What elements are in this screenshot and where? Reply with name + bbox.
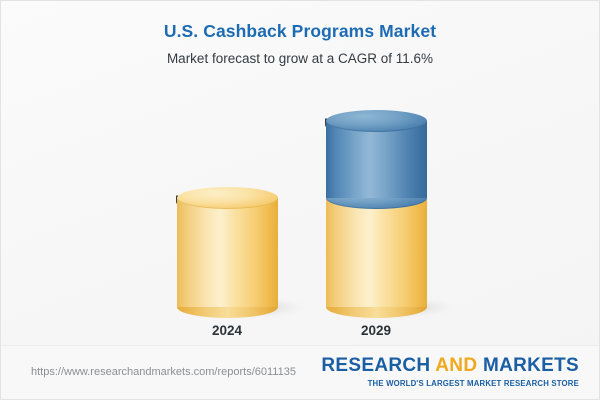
segment-body-front [326,198,427,307]
chart-subtitle: Market forecast to grow at a CAGR of 11.… [1,42,599,66]
logo-word-and: AND [435,355,477,376]
research-and-markets-logo[interactable]: RESEARCH AND MARKETS THE WORLD'S LARGEST… [321,356,579,388]
segment-body-front [177,198,278,307]
chart-header: U.S. Cashback Programs Market Market for… [1,1,599,66]
logo-word-research: RESEARCH [321,355,430,376]
logo-word-markets: MARKETS [483,355,579,376]
page-title: U.S. Cashback Programs Market [1,1,599,42]
cylinder-segment-growth-2029 [326,121,427,198]
axis-label-2024: 2024 [147,323,307,338]
cylinder-top-cap [326,110,427,132]
cylinder-top-cap [177,187,278,209]
cylinder-segment-base-2029 [326,198,427,307]
plot-area: USD 43.5 Billion 2024 USD 75.5 Billion [1,81,600,346]
report-url[interactable]: https://www.researchandmarkets.com/repor… [31,366,296,378]
cylinder-segment-base-2024 [177,198,278,307]
axis-label-2029: 2029 [296,323,456,338]
footer: https://www.researchandmarkets.com/repor… [1,345,600,399]
segment-body-front [326,121,427,198]
chart-card: U.S. Cashback Programs Market Market for… [0,0,600,400]
logo-tagline: THE WORLD'S LARGEST MARKET RESEARCH STOR… [321,379,579,388]
logo-wordmark: RESEARCH AND MARKETS [321,356,579,375]
cylinder-2024[interactable] [177,198,278,307]
cylinder-2029[interactable] [326,121,427,307]
